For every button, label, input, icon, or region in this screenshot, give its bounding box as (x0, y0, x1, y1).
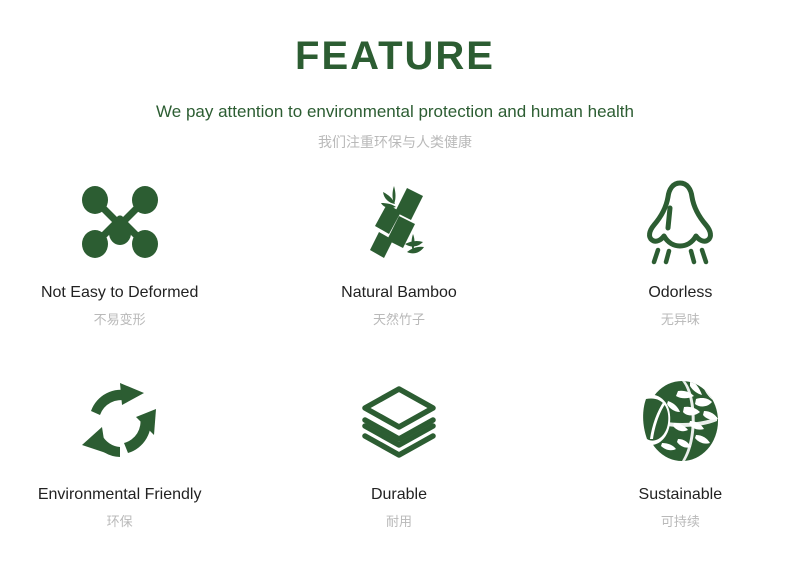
feature-label-english: Natural Bamboo (341, 283, 457, 302)
feature-item-natural-bamboo: Natural Bamboo 天然竹子 (267, 171, 530, 367)
feature-label-chinese: 天然竹子 (373, 312, 425, 328)
molecule-network-icon (79, 179, 161, 265)
feature-label-english: Not Easy to Deformed (41, 283, 198, 302)
feature-label-chinese: 耐用 (386, 514, 412, 530)
feature-item-not-easy-to-deformed: Not Easy to Deformed 不易变形 (0, 171, 251, 367)
recycle-icon (78, 375, 162, 467)
feature-label-english: Environmental Friendly (38, 485, 202, 504)
feature-label-chinese: 环保 (107, 514, 133, 530)
subtitle-english: We pay attention to environmental protec… (0, 102, 790, 122)
feature-label-english: Durable (371, 485, 427, 504)
feature-label-chinese: 可持续 (661, 514, 700, 530)
feature-label-chinese: 不易变形 (94, 312, 146, 328)
bamboo-icon (363, 179, 435, 265)
page-title: FEATURE (0, 34, 790, 78)
feature-item-sustainable: Sustainable 可持续 (549, 367, 790, 563)
feature-grid: Not Easy to Deformed 不易变形 (0, 171, 790, 563)
feature-label-english: Odorless (648, 283, 712, 302)
feature-label-chinese: 无异味 (661, 312, 700, 328)
feature-label-english: Sustainable (639, 485, 723, 504)
nose-icon (643, 179, 717, 265)
section-header: FEATURE We pay attention to environmenta… (0, 0, 790, 151)
layers-stack-icon (359, 375, 439, 467)
subtitle-chinese: 我们注重环保与人类健康 (0, 134, 790, 151)
feature-item-odorless: Odorless 无异味 (549, 171, 790, 367)
feature-item-environmental-friendly: Environmental Friendly 环保 (0, 367, 251, 563)
globe-leaf-icon (638, 375, 722, 467)
feature-section: FEATURE We pay attention to environmenta… (0, 0, 790, 576)
feature-item-durable: Durable 耐用 (267, 367, 530, 563)
